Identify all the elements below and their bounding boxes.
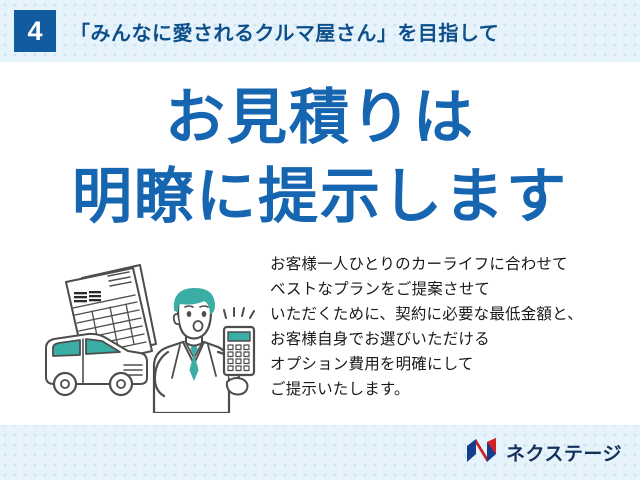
header-content: 4 「みんなに愛されるクルマ屋さん」を目指して (14, 10, 499, 52)
content-panel: お見積りは 明瞭に提示します (0, 62, 640, 425)
body-line: いただくために、契約に必要な最低金額と、 (270, 302, 630, 327)
header-bar: 4 「みんなに愛されるクルマ屋さん」を目指して (0, 0, 640, 62)
section-number-badge: 4 (14, 10, 56, 52)
body-line: ご提示いたします。 (270, 377, 630, 402)
brand-logo: ネクステージ (465, 437, 622, 468)
page-title: 「みんなに愛されるクルマ屋さん」を目指して (70, 17, 499, 46)
body-line: お客様一人ひとりのカーライフに合わせて (270, 252, 630, 277)
body-line: ベストなプランをご提案させて (270, 277, 630, 302)
headline-line-2: 明瞭に提示します (0, 167, 640, 227)
illustration-estimate-scene (28, 248, 268, 413)
brand-logo-text: ネクステージ (506, 439, 622, 466)
body-line: オプション費用を明確にして (270, 352, 630, 377)
headline-line-1: お見積りは (0, 88, 640, 148)
body-line: お客様自身でお選びいただける (270, 327, 630, 352)
nexstage-n-mark-icon (465, 437, 499, 468)
footer-bar: ネクステージ (0, 425, 640, 480)
body-copy: お客様一人ひとりのカーライフに合わせて ベストなプランをご提案させて いただくた… (270, 252, 630, 402)
